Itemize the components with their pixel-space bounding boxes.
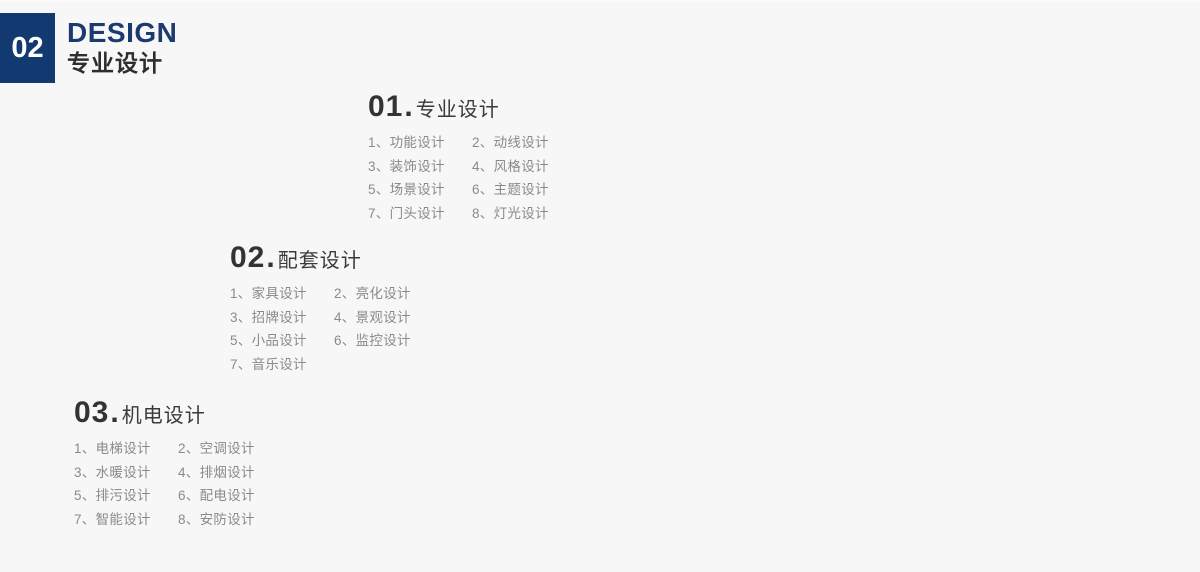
page-title-chinese: 专业设计 bbox=[67, 49, 177, 78]
section-03-heading: 03 . 机电设计 bbox=[74, 398, 255, 428]
item-label: 7、门头设计 bbox=[368, 202, 472, 226]
item-label: 2、亮化设计 bbox=[334, 282, 411, 306]
content-section-02: 02 . 配套设计 1、家具设计 2、亮化设计 3、招牌设计 4、景观设计 5、… bbox=[230, 243, 411, 376]
item-label: 5、排污设计 bbox=[74, 484, 178, 508]
list-item: 3、招牌设计 4、景观设计 bbox=[230, 306, 411, 330]
section-01-items: 1、功能设计 2、动线设计 3、装饰设计 4、风格设计 5、场景设计 6、主题设… bbox=[368, 131, 549, 225]
section-02-heading: 02 . 配套设计 bbox=[230, 243, 411, 273]
item-label: 4、风格设计 bbox=[472, 155, 549, 179]
item-label: 4、景观设计 bbox=[334, 306, 411, 330]
slide-canvas: 02 DESIGN 专业设计 01 . 专业设计 1、功能设计 2、动线设计 3… bbox=[0, 0, 1200, 572]
page-title-english: DESIGN bbox=[67, 18, 177, 47]
item-label: 2、空调设计 bbox=[178, 437, 255, 461]
item-label: 7、音乐设计 bbox=[230, 353, 334, 377]
list-item: 5、排污设计 6、配电设计 bbox=[74, 484, 255, 508]
section-03-dot: . bbox=[110, 398, 118, 428]
section-03-number: 03 bbox=[74, 398, 109, 428]
item-label: 7、智能设计 bbox=[74, 508, 178, 532]
item-label: 5、场景设计 bbox=[368, 178, 472, 202]
list-item: 5、小品设计 6、监控设计 bbox=[230, 329, 411, 353]
item-label: 8、安防设计 bbox=[178, 508, 255, 532]
item-label: 6、主题设计 bbox=[472, 178, 549, 202]
section-01-number: 01 bbox=[368, 92, 403, 122]
section-02-number: 02 bbox=[230, 243, 265, 273]
item-label: 4、排烟设计 bbox=[178, 461, 255, 485]
item-label: 6、配电设计 bbox=[178, 484, 255, 508]
item-label: 3、装饰设计 bbox=[368, 155, 472, 179]
top-hairline bbox=[0, 0, 1200, 2]
item-label: 3、水暖设计 bbox=[74, 461, 178, 485]
section-01-title: 专业设计 bbox=[416, 100, 500, 120]
list-item: 7、音乐设计 bbox=[230, 353, 411, 377]
list-item: 3、装饰设计 4、风格设计 bbox=[368, 155, 549, 179]
item-label: 5、小品设计 bbox=[230, 329, 334, 353]
item-label: 2、动线设计 bbox=[472, 131, 549, 155]
header-text-group: DESIGN 专业设计 bbox=[67, 13, 177, 83]
list-item: 1、电梯设计 2、空调设计 bbox=[74, 437, 255, 461]
list-item: 3、水暖设计 4、排烟设计 bbox=[74, 461, 255, 485]
section-03-title: 机电设计 bbox=[122, 406, 206, 426]
header: 02 DESIGN 专业设计 bbox=[0, 13, 177, 83]
section-01-heading: 01 . 专业设计 bbox=[368, 92, 549, 122]
section-03-items: 1、电梯设计 2、空调设计 3、水暖设计 4、排烟设计 5、排污设计 6、配电设… bbox=[74, 437, 255, 531]
item-label: 1、功能设计 bbox=[368, 131, 472, 155]
content-section-01: 01 . 专业设计 1、功能设计 2、动线设计 3、装饰设计 4、风格设计 5、… bbox=[368, 92, 549, 225]
section-02-items: 1、家具设计 2、亮化设计 3、招牌设计 4、景观设计 5、小品设计 6、监控设… bbox=[230, 282, 411, 376]
section-02-dot: . bbox=[266, 243, 274, 273]
section-badge-number: 02 bbox=[11, 34, 43, 63]
list-item: 7、智能设计 8、安防设计 bbox=[74, 508, 255, 532]
list-item: 1、家具设计 2、亮化设计 bbox=[230, 282, 411, 306]
item-label: 1、电梯设计 bbox=[74, 437, 178, 461]
list-item: 1、功能设计 2、动线设计 bbox=[368, 131, 549, 155]
item-label: 3、招牌设计 bbox=[230, 306, 334, 330]
item-label: 1、家具设计 bbox=[230, 282, 334, 306]
section-02-title: 配套设计 bbox=[278, 251, 362, 271]
section-badge: 02 bbox=[0, 13, 55, 83]
list-item: 5、场景设计 6、主题设计 bbox=[368, 178, 549, 202]
content-section-03: 03 . 机电设计 1、电梯设计 2、空调设计 3、水暖设计 4、排烟设计 5、… bbox=[74, 398, 255, 531]
section-01-dot: . bbox=[404, 92, 412, 122]
item-label: 6、监控设计 bbox=[334, 329, 411, 353]
list-item: 7、门头设计 8、灯光设计 bbox=[368, 202, 549, 226]
item-label: 8、灯光设计 bbox=[472, 202, 549, 226]
